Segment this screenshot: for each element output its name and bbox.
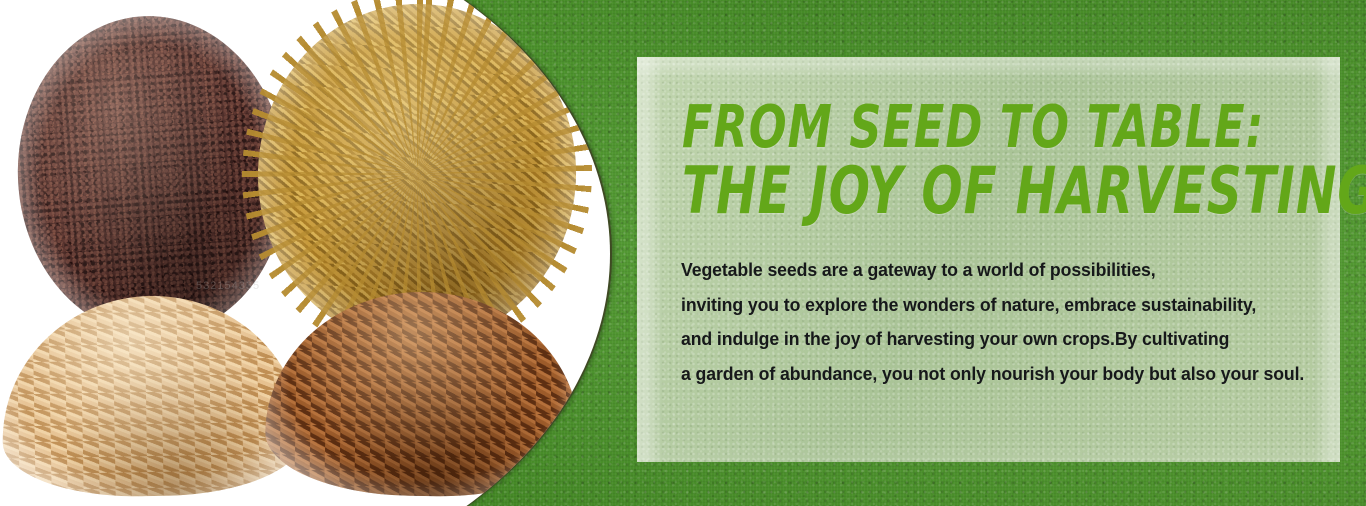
wheat-grains-pile xyxy=(0,293,303,498)
wheat-grains-texture xyxy=(0,293,303,498)
headline-line-1: FROM SEED TO TABLE: xyxy=(682,99,1366,155)
body-line-3: and indulge in the joy of harvesting you… xyxy=(681,329,1292,349)
photo-watermark: 532154335 xyxy=(196,280,260,292)
body-line-4: a garden of abundance, you not only nour… xyxy=(681,364,1292,384)
seed-photo-oval: 532154335 xyxy=(0,0,612,506)
banner-body-copy: Vegetable seeds are a gateway to a world… xyxy=(681,260,1321,383)
seed-photo-collage: 532154335 xyxy=(0,0,610,506)
message-panel: FROM SEED TO TABLE: THE JOY OF HARVESTIN… xyxy=(637,57,1340,462)
banner-headline: FROM SEED TO TABLE: THE JOY OF HARVESTIN… xyxy=(682,99,1366,207)
body-line-1: Vegetable seeds are a gateway to a world… xyxy=(681,260,1292,280)
seed-to-table-banner: 532154335 FROM SEED TO TABLE: THE JOY OF… xyxy=(0,0,1366,506)
headline-line-2: THE JOY OF HARVESTING xyxy=(682,160,1366,222)
body-line-2: inviting you to explore the wonders of n… xyxy=(681,295,1292,315)
